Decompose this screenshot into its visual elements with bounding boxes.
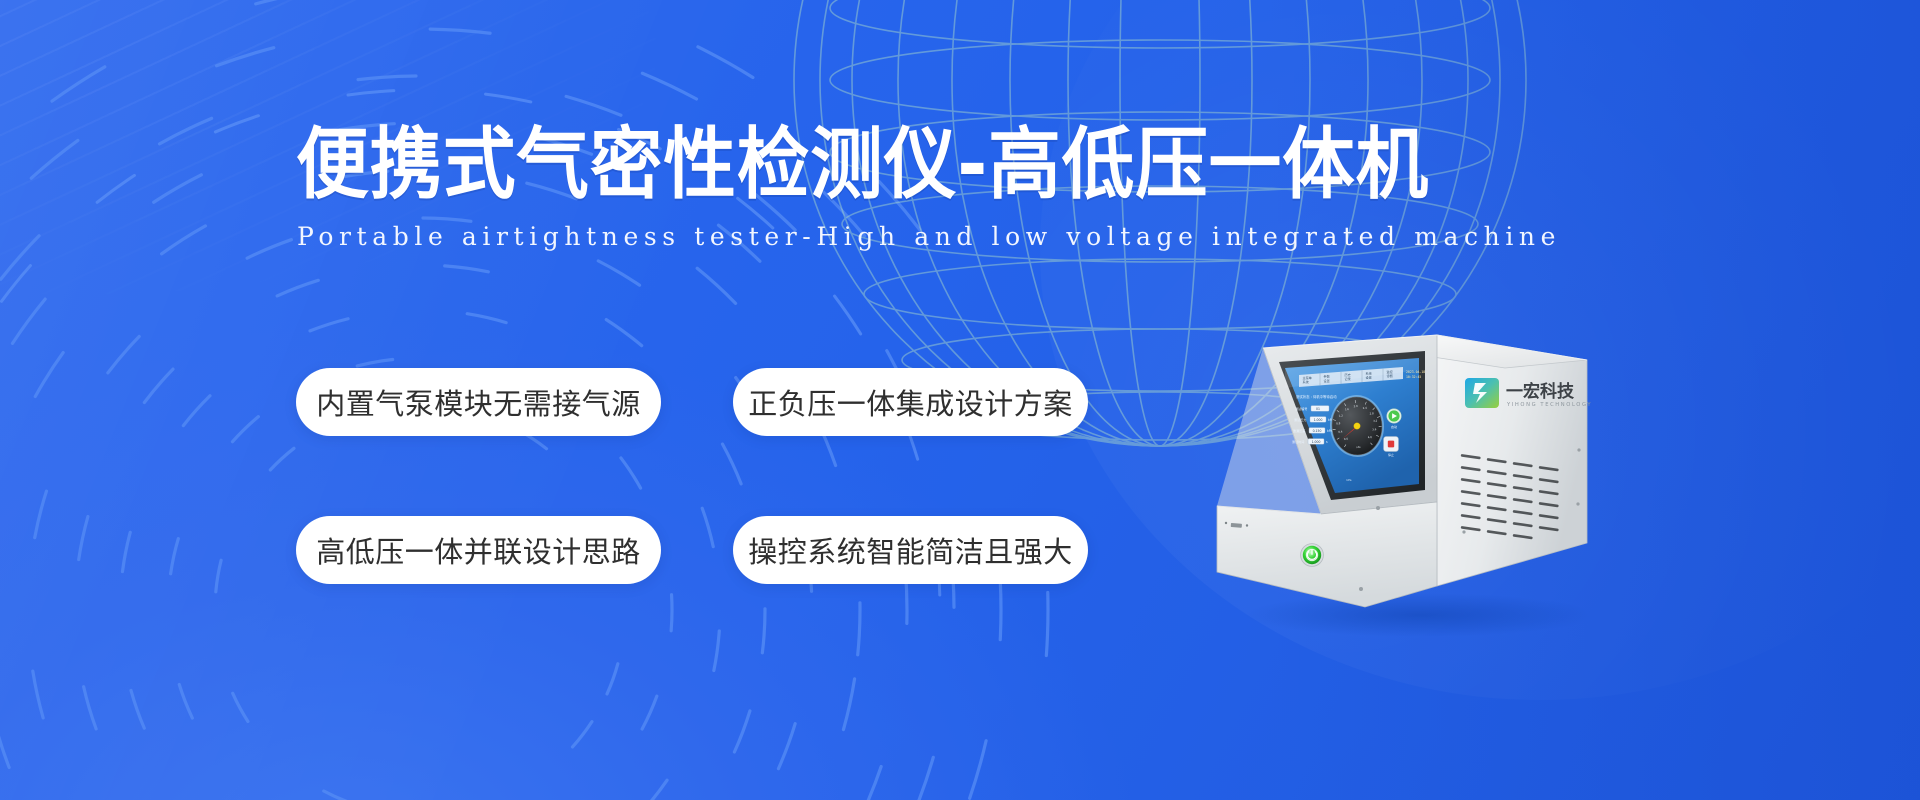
svg-text:01: 01: [1316, 407, 1320, 411]
feature-pill[interactable]: 高低压一体并联设计思路: [296, 516, 661, 584]
svg-text:停止: 停止: [1388, 452, 1394, 457]
brand-logo: 一宏科技 YIHONG TECHNOLOGY: [1465, 378, 1592, 408]
feature-pill-label: 操控系统智能简洁且强大: [748, 529, 1073, 571]
svg-text:4.0: 4.0: [1368, 435, 1373, 439]
svg-text:0.8: 0.8: [1336, 421, 1341, 425]
svg-text:0.150: 0.150: [1313, 429, 1322, 433]
svg-text:2.0: 2.0: [1353, 404, 1358, 408]
svg-text:2.4: 2.4: [1363, 406, 1368, 410]
svg-text:3.6: 3.6: [1372, 427, 1377, 431]
svg-text:1.2: 1.2: [1339, 413, 1344, 417]
power-button: [1301, 544, 1324, 567]
svg-text:2.8: 2.8: [1369, 411, 1374, 415]
feature-pill-label: 内置气泵模块无需接气源: [316, 381, 641, 423]
svg-text:启动: 启动: [1391, 424, 1397, 429]
device-side-panel: [1437, 335, 1587, 586]
promo-banner: 便携式气密性检测仪-高低压一体机 Portable airtightness t…: [0, 0, 1920, 800]
product-image: 一宏科技 YIHONG TECHNOLOGY: [1175, 318, 1635, 658]
svg-text:测试编号: 测试编号: [1295, 406, 1307, 411]
svg-text:3.2: 3.2: [1373, 419, 1378, 423]
svg-text:测试压力: 测试压力: [1294, 417, 1306, 422]
feature-pill[interactable]: 内置气泵模块无需接气源: [296, 368, 661, 436]
brand-name-en: YIHONG TECHNOLOGY: [1506, 402, 1592, 408]
svg-text:测试时间: 测试时间: [1292, 439, 1304, 444]
svg-text:0.4: 0.4: [1338, 430, 1343, 434]
stop-icon: [1388, 441, 1394, 448]
svg-text:1.6: 1.6: [1345, 407, 1350, 411]
feature-pill-list: 内置气泵模块无需接气源 正负压一体集成设计方案 高低压一体并联设计思路 操控系统…: [296, 368, 1088, 584]
svg-text:1.000: 1.000: [1314, 418, 1323, 422]
feature-pill[interactable]: 正负压一体集成设计方案: [733, 368, 1088, 436]
banner-content: 便携式气密性检测仪-高低压一体机 Portable airtightness t…: [0, 0, 1920, 800]
svg-text:1.000: 1.000: [1312, 440, 1321, 444]
page-title: 便携式气密性检测仪-高低压一体机: [296, 126, 1319, 206]
brand-name-cn: 一宏科技: [1506, 381, 1575, 402]
page-subtitle: Portable airtightness tester-High and lo…: [297, 222, 1396, 251]
feature-pill[interactable]: 操控系统智能简洁且强大: [733, 516, 1088, 584]
feature-pill-label: 正负压一体集成设计方案: [748, 381, 1073, 423]
svg-text:0.0: 0.0: [1344, 437, 1349, 441]
screen-footer-unit: kPa: [1347, 478, 1352, 482]
screen-panel-title: 测试状态 : 待机中等待启动: [1296, 394, 1337, 399]
heading-block: 便携式气密性检测仪-高低压一体机 Portable airtightness t…: [296, 126, 1396, 251]
screen-time: 10:32:45: [1406, 375, 1421, 379]
feature-pill-label: 高低压一体并联设计思路: [316, 529, 641, 571]
svg-text:泄漏压差: 泄漏压差: [1293, 428, 1305, 433]
product-shadow: [1245, 593, 1595, 637]
device-front-panel: [1217, 502, 1437, 607]
